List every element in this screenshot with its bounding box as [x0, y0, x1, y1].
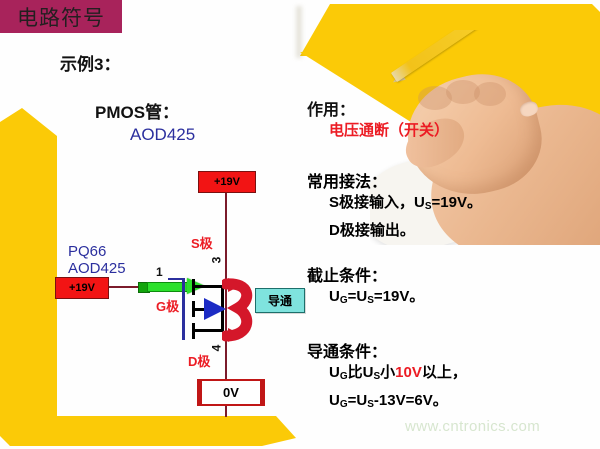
section-wiring-heading: 常用接法：: [307, 168, 597, 192]
cutoff-voltage-value: =19V。: [374, 288, 424, 305]
us-subscript: S: [367, 399, 374, 410]
wire-gate-horizontal: [106, 286, 141, 288]
section-wiring-line1: S极接输入，US=19V。: [329, 192, 597, 218]
us-symbol: U: [363, 364, 374, 381]
pin-number-3: 3: [209, 257, 223, 264]
voltage-value: =19V。: [432, 194, 482, 211]
component-partnumber: AOD425: [68, 260, 126, 277]
section-cutoff: 截止条件： UG=US=19V。: [307, 262, 597, 312]
section-conduction-line1: UG比US小10V以上，: [329, 362, 597, 388]
threshold-voltage-highlight: 10V: [395, 364, 422, 381]
mosfet-gate-bar: [182, 278, 185, 340]
section-cutoff-formula: UG=US=19V。: [329, 286, 597, 312]
us-symbol: U: [356, 288, 367, 305]
mosfet-source-lead: [195, 285, 223, 288]
pin-number-1: 1: [156, 265, 163, 279]
source-terminal-text: 极接输入，: [339, 194, 414, 211]
less-than-word: 小: [380, 364, 395, 381]
pin-number-4: 4: [209, 345, 223, 352]
drain-terminal-text: 极接输出。: [340, 222, 415, 239]
page-title: 电路符号: [0, 0, 122, 33]
example-label: 示例3：: [60, 50, 120, 75]
voltage-subscript: S: [425, 201, 432, 212]
device-part-number: AOD425: [130, 125, 195, 145]
decor-yellow-top-bar: [300, 4, 600, 56]
supply-label-left: +19V: [55, 277, 109, 299]
drain-terminal-letter: D: [329, 222, 340, 239]
section-function: 作用： 电压通断（开关）: [307, 96, 597, 142]
section-wiring: 常用接法： S极接输入，US=19V。 D极接输出。: [307, 168, 597, 242]
section-conduction-heading: 导通条件：: [307, 338, 597, 362]
ground-label-box: 0V: [197, 379, 265, 406]
section-function-body: 电压通断（开关）: [329, 120, 597, 142]
ug-symbol: U: [329, 392, 340, 409]
device-type-label: PMOS管：: [95, 98, 179, 123]
section-conduction: 导通条件： UG比US小10V以上， UG=US-13V=6V。: [307, 338, 597, 416]
ug-symbol: U: [329, 288, 340, 305]
section-conduction-line2: UG=US-13V=6V。: [329, 390, 597, 416]
slide-canvas: 电路符号 示例3： PMOS管： AOD425 +19V +19V 0V: [0, 0, 600, 449]
mosfet-drain-lead: [195, 329, 223, 332]
decor-yellow-shadow: [296, 6, 302, 58]
ug-subscript: G: [340, 295, 348, 306]
terminal-label-gate: G极: [156, 296, 179, 315]
wire-source-vertical: [225, 191, 227, 281]
mosfet-gate-lead: [168, 278, 182, 280]
page-title-text: 电路符号: [17, 2, 105, 32]
terminal-label-drain: D极: [188, 351, 210, 370]
circuit-diagram: +19V +19V 0V 导通 S极 G极 D极: [40, 165, 300, 420]
compare-word: 比: [348, 364, 363, 381]
status-badge: 导通: [255, 288, 305, 313]
decor-yellow-bottom-bar: [0, 416, 296, 446]
component-refdes: PQ66: [68, 243, 126, 260]
component-reference: PQ66 AOD425: [68, 243, 126, 277]
current-flow-arrow-icon: [222, 274, 256, 346]
voltage-symbol: U: [414, 194, 425, 211]
conduction-voltage-value: -13V=6V。: [374, 392, 448, 409]
terminal-label-source: S极: [191, 233, 213, 252]
supply-label-top: +19V: [198, 171, 256, 193]
watermark: www.cntronics.com: [405, 418, 540, 435]
ug-symbol: U: [329, 364, 340, 381]
section-wiring-line2: D极接输出。: [329, 220, 597, 242]
source-terminal-letter: S: [329, 194, 339, 211]
section-function-heading: 作用：: [307, 96, 597, 120]
ug-subscript: G: [340, 371, 348, 382]
above-word: 以上，: [422, 364, 467, 381]
section-cutoff-heading: 截止条件：: [307, 262, 597, 286]
us-subscript: S: [367, 295, 374, 306]
ug-subscript: G: [340, 399, 348, 410]
us-symbol: U: [356, 392, 367, 409]
